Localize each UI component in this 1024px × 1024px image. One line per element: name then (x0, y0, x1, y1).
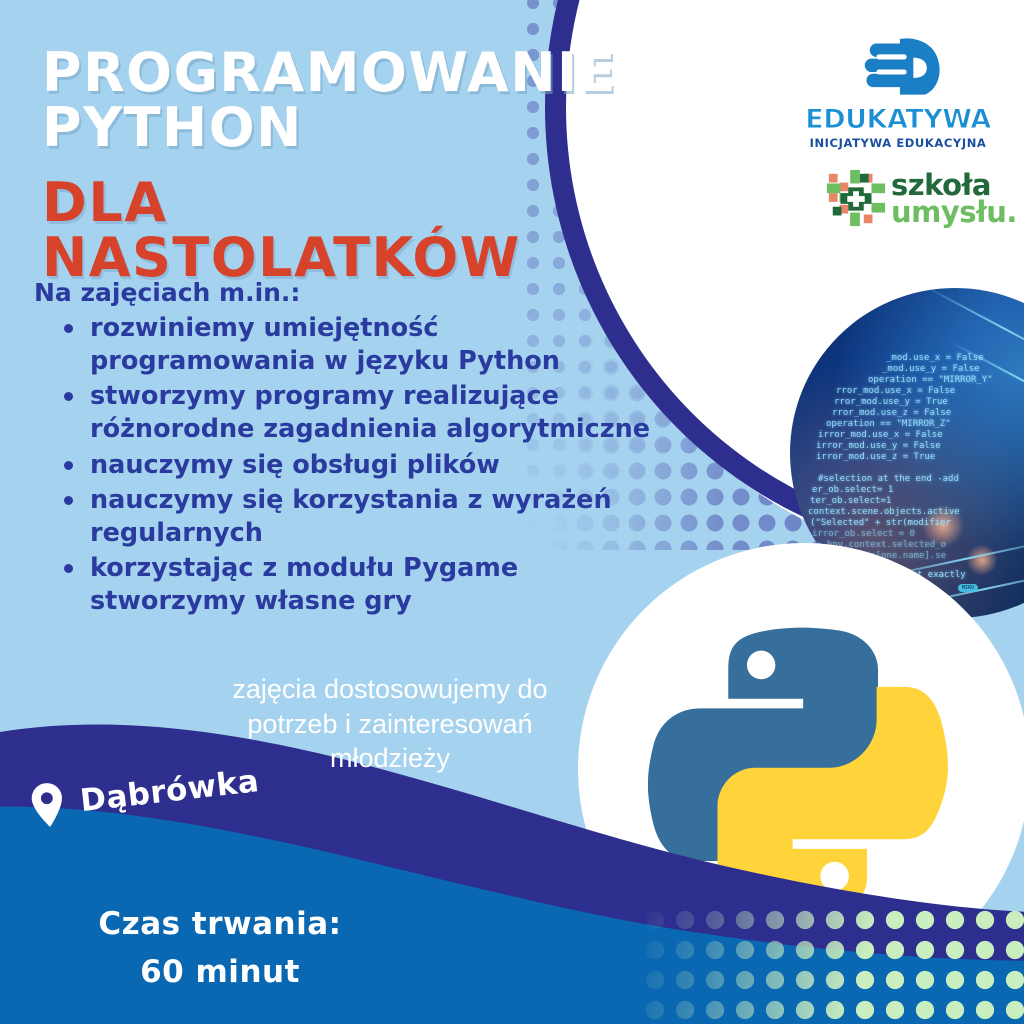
poster-canvas: EDUKATYWA INICJATYWA EDUKACYJNA (0, 0, 1024, 1024)
list-item: rozwiniemy umiejętność programowania w j… (58, 312, 658, 378)
intro-label: Na zajęciach m.in.: (34, 278, 300, 307)
bullet-dot-icon (64, 461, 73, 470)
list-item-label: nauczymy się korzystania z wyrażeń regul… (90, 485, 612, 548)
halftone-dots-bottom (640, 905, 1024, 1024)
list-item-label: nauczymy się obsługi plików (90, 450, 500, 480)
bullet-dot-icon (64, 324, 73, 333)
logo-edukatywa: EDUKATYWA INICJATYWA EDUKACYJNA (793, 36, 1003, 150)
maze-cross-emblem-icon (825, 168, 887, 230)
duration-block: Czas trwania: 60 minut (70, 900, 370, 996)
bullet-dot-icon (64, 564, 73, 573)
duration-value: 60 minut (70, 948, 370, 996)
headline-line-1: PROGRAMOWANIE (42, 45, 582, 100)
list-item: korzystając z modułu Pygame stworzymy wł… (58, 552, 658, 618)
list-item: nauczymy się korzystania z wyrażeń regul… (58, 484, 658, 550)
map-pin-icon (28, 781, 67, 829)
edukatywa-wordmark: EDUKATYWA (793, 106, 1003, 133)
logo-szkola-umyslu: szkoła umysłu. (825, 168, 1015, 230)
thumbs-up-icon (848, 36, 949, 98)
list-item-label: rozwiniemy umiejętność programowania w j… (90, 313, 560, 376)
headline-line-2: PYTHON (42, 100, 582, 155)
feature-list: rozwiniemy umiejętność programowania w j… (58, 312, 658, 620)
page-title: PROGRAMOWANIE PYTHON DLA NASTOLATKÓW (42, 45, 582, 285)
headline-line-3: DLA NASTOLATKÓW (42, 175, 582, 285)
list-item: stworzymy programy realizujące różnorodn… (58, 380, 658, 446)
bullet-dot-icon (64, 496, 73, 505)
duration-label: Czas trwania: (70, 900, 370, 948)
bullet-dot-icon (64, 392, 73, 401)
list-item-label: stworzymy programy realizujące różnorodn… (90, 381, 650, 444)
list-item-label: korzystając z modułu Pygame stworzymy wł… (90, 553, 518, 616)
list-item: nauczymy się obsługi plików (58, 449, 658, 482)
umyslu-word: umysłu. (891, 199, 1017, 226)
edukatywa-tagline: INICJATYWA EDUKACYJNA (793, 136, 1003, 150)
